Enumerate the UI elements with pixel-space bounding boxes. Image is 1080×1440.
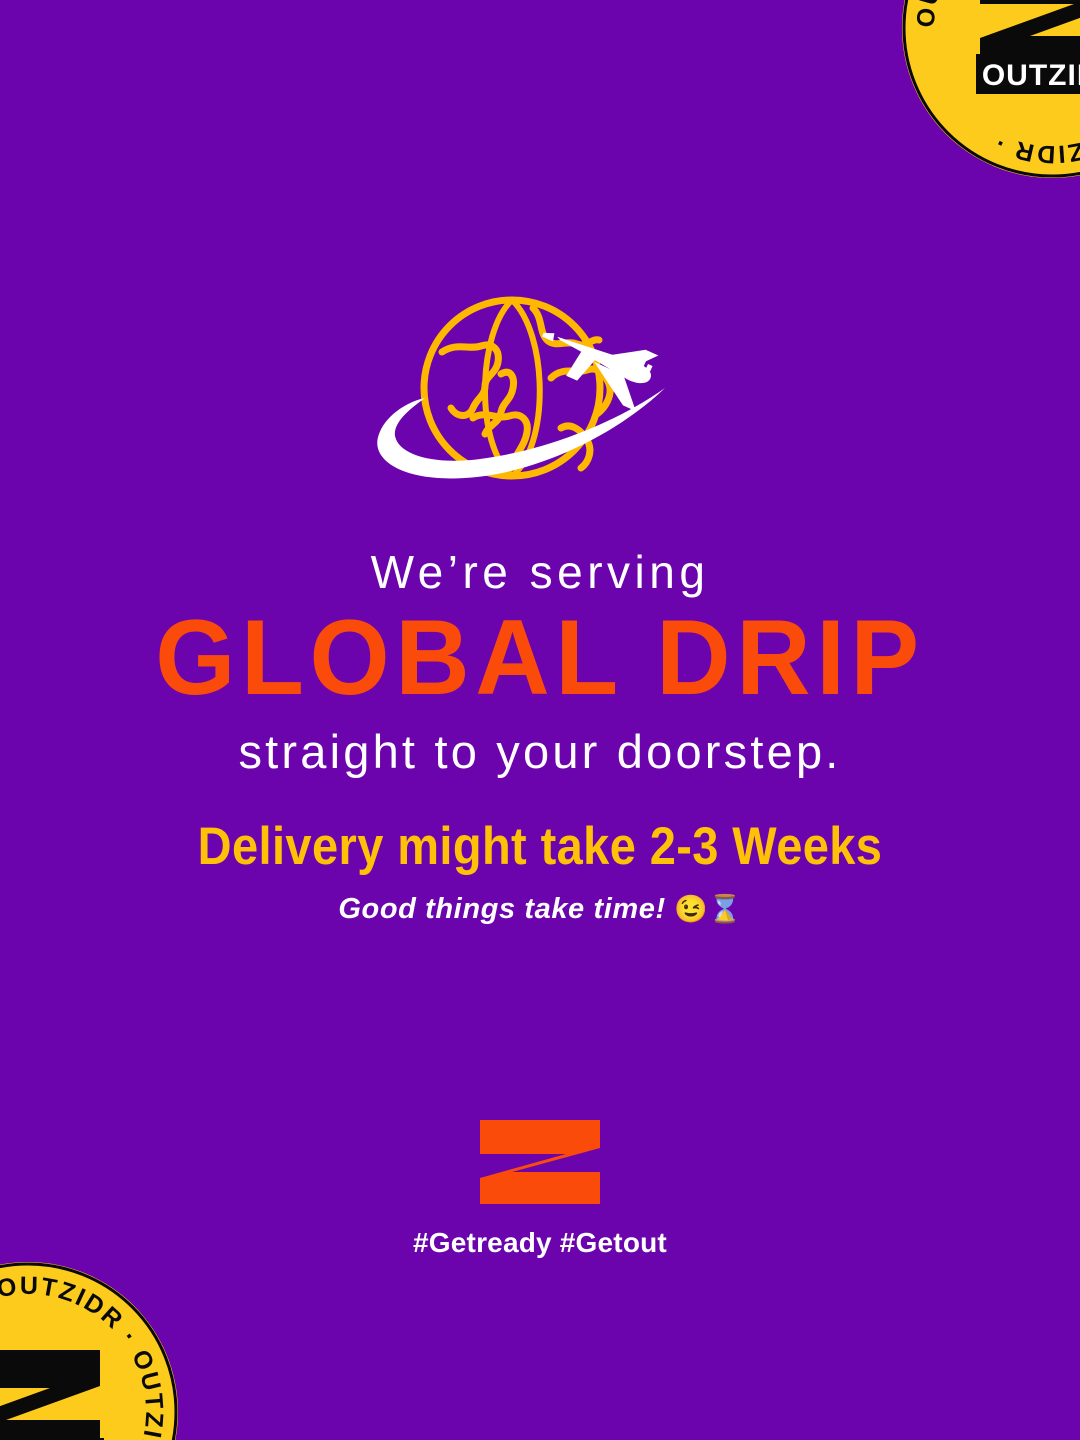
tagline-line-3: straight to your doorstep. xyxy=(0,726,1080,778)
outzidr-z-logo xyxy=(480,1120,600,1204)
hashtags: #Getready #Getout xyxy=(0,1227,1080,1259)
headline: GLOBAL DRIP xyxy=(0,604,1080,711)
brand-badge-bottom-left: OUTZIDR · OUTZIDR · OUTZIDR · OUTZIDR · … xyxy=(0,1262,178,1440)
globe-icon xyxy=(424,300,610,476)
airplane-icon xyxy=(530,309,660,411)
delivery-note-block: Delivery might take 2-3 Weeks Good thing… xyxy=(0,820,1080,926)
delivery-subtext: Good things take time! 😉⌛ xyxy=(0,894,1080,926)
globe-airplane-icon xyxy=(365,278,715,508)
delivery-headline: Delivery might take 2-3 Weeks xyxy=(0,817,1080,875)
main-copy-block: We’re serving GLOBAL DRIP straight to yo… xyxy=(0,548,1080,777)
delivery-subtext-text: Good things take time! xyxy=(338,893,665,925)
tagline-line-1: We’re serving xyxy=(0,548,1080,598)
footer-block: #Getready #Getout xyxy=(0,1120,1080,1259)
brand-badge-top-right: OUTZIDR · OUTZIDR · OUTZIDR · OUTZIDR · … xyxy=(902,0,1080,178)
wink-hourglass-emoji: 😉⌛ xyxy=(674,894,741,924)
poster-canvas: OUTZIDR · OUTZIDR · OUTZIDR · OUTZIDR · … xyxy=(0,0,1080,1440)
badge-center-wordmark: OUTZIDR xyxy=(982,59,1080,92)
